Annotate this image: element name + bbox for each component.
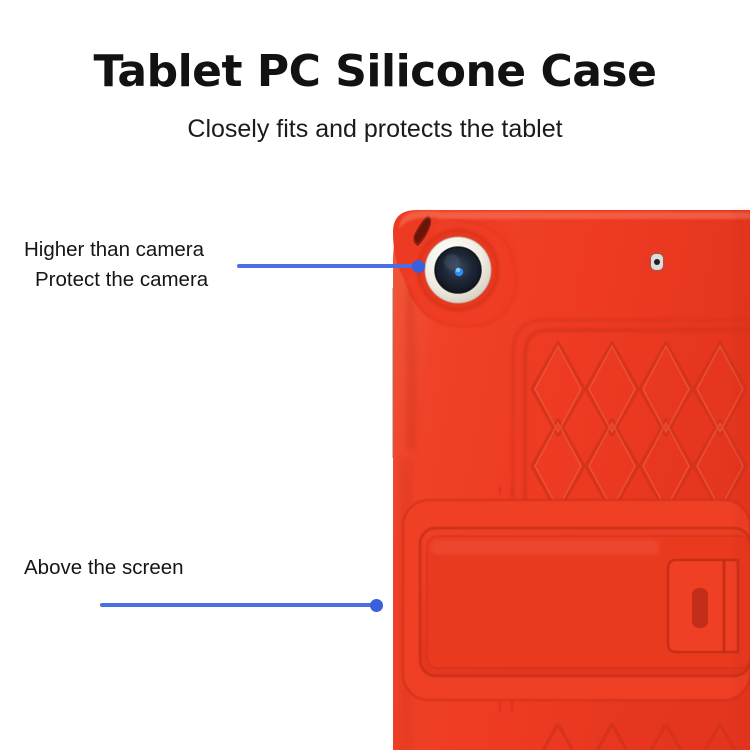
tablet-case-illustration	[0, 0, 750, 750]
diamond-pattern	[532, 343, 746, 512]
page-title: Tablet PC Silicone Case	[0, 46, 750, 97]
callout-leader-line-camera	[237, 264, 421, 268]
microphone-hole	[650, 253, 664, 271]
kickstand[interactable]	[403, 500, 750, 700]
camera-cutout	[418, 230, 498, 310]
callout-leader-dot-camera	[412, 260, 425, 273]
kickstand-latch[interactable]	[668, 560, 738, 652]
callout-camera-line2: Protect the camera	[24, 265, 208, 295]
callout-label-camera: Higher than camera Protect the camera	[24, 235, 208, 295]
callout-screen-line1: Above the screen	[24, 556, 184, 579]
case-body	[393, 210, 750, 750]
callout-camera-line1: Higher than camera	[24, 238, 204, 261]
callout-label-screen: Above the screen	[24, 553, 184, 583]
tablet-metal-edge	[392, 288, 413, 458]
page-subtitle: Closely fits and protects the tablet	[0, 115, 750, 144]
callout-leader-dot-screen	[370, 599, 383, 612]
product-feature-image: Tablet PC Silicone Case Closely fits and…	[0, 0, 750, 750]
callout-leader-line-screen	[100, 603, 378, 607]
